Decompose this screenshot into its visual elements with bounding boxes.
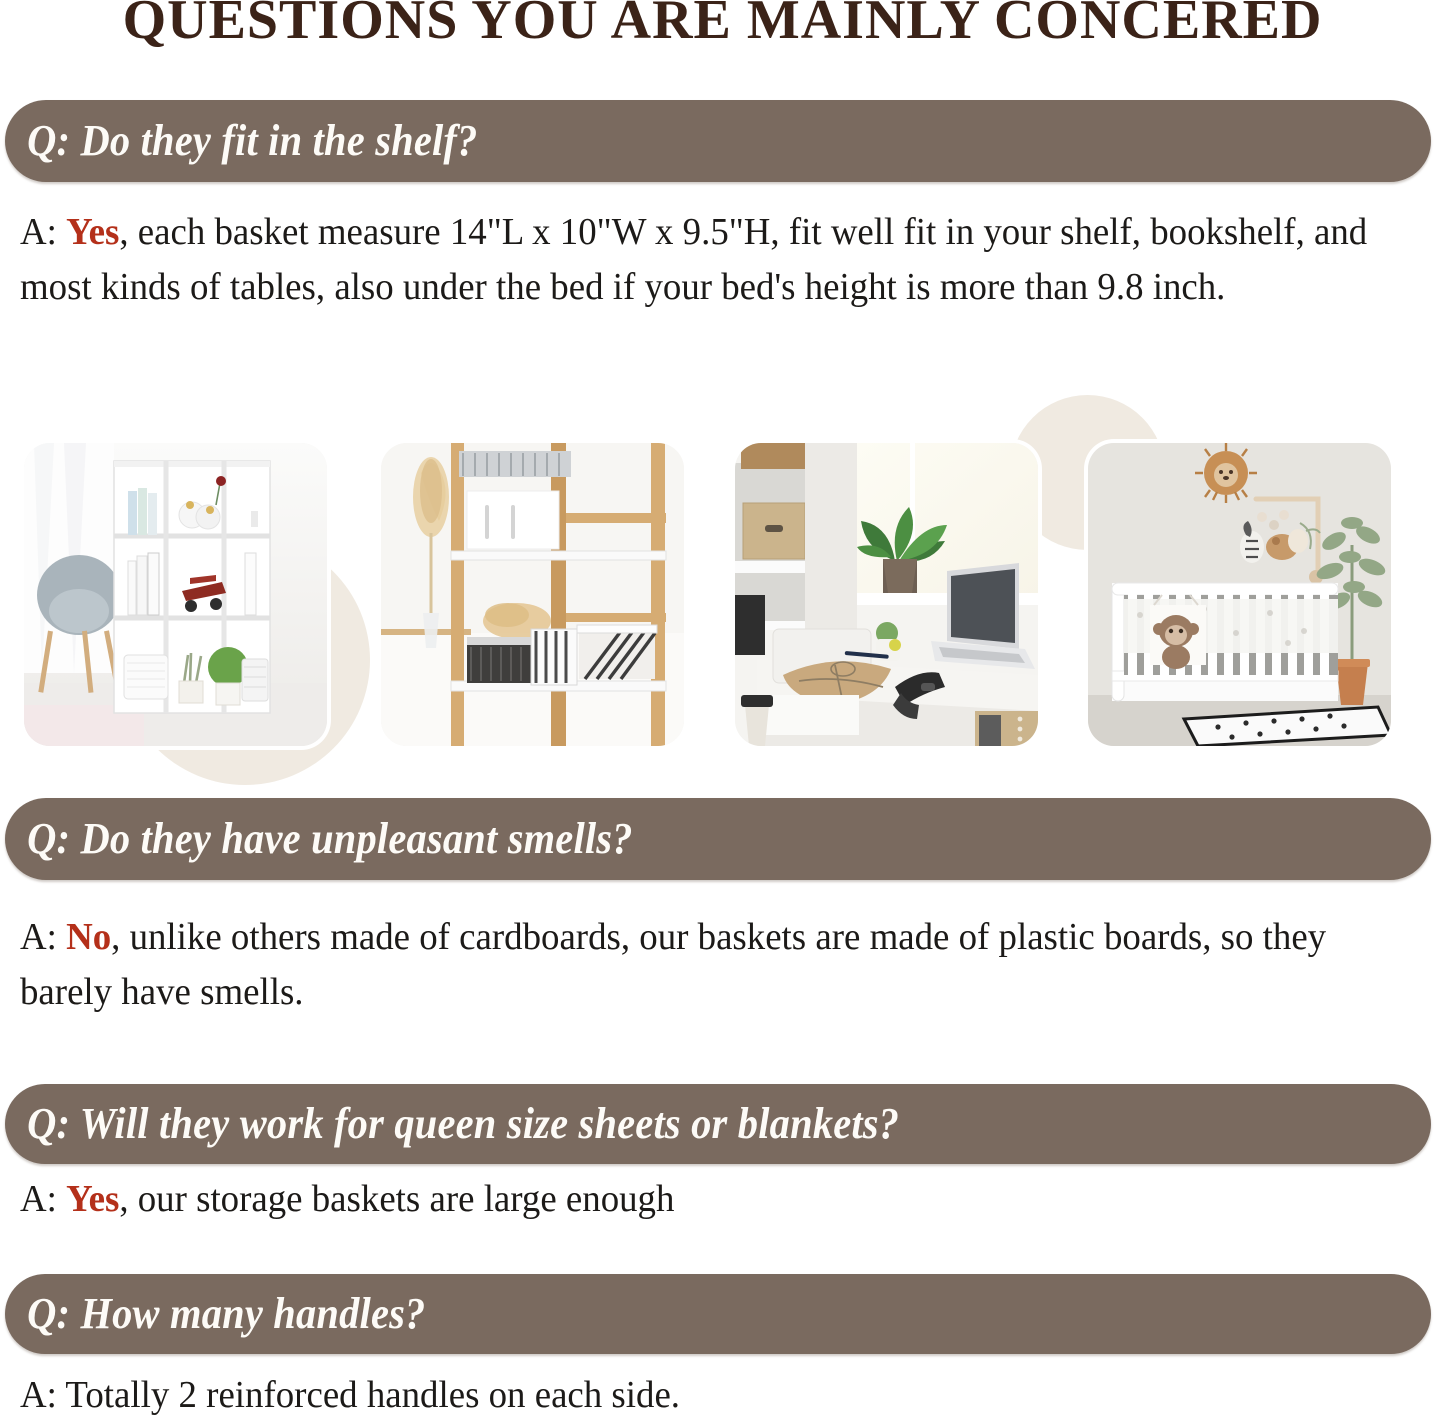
question-text-1: Q: Do they fit in the shelf? [5, 117, 478, 165]
answer-text-1: A: Yes, each basket measure 14"L x 10"W … [20, 205, 1397, 315]
question-text-3: Q: Will they work for queen size sheets … [5, 1100, 899, 1148]
answer-body-3: , our storage baskets are large enough [119, 1178, 674, 1220]
photo-bookshelf-room [24, 443, 327, 746]
answer-body-4: Totally 2 reinforced handles on each sid… [65, 1374, 680, 1416]
answer-highlight-3: Yes [66, 1178, 119, 1220]
answer-highlight-2: No [66, 916, 111, 958]
question-bar-4: Q: How many handles? [5, 1274, 1431, 1354]
answer-highlight-1: Yes [66, 211, 119, 253]
photo-office-desk [735, 443, 1038, 746]
question-text-2: Q: Do they have unpleasant smells? [5, 815, 633, 863]
question-text-4: Q: How many handles? [5, 1290, 425, 1338]
answer-text-4: A: Totally 2 reinforced handles on each … [20, 1368, 1397, 1423]
answer-body-2: , unlike others made of cardboards, our … [20, 916, 1326, 1013]
answer-prefix-3: A: [20, 1178, 66, 1220]
answer-body-1: , each basket measure 14"L x 10"W x 9.5"… [20, 211, 1367, 308]
photo-nursery-crib [1088, 443, 1391, 746]
answer-text-3: A: Yes, our storage baskets are large en… [20, 1172, 1397, 1227]
photo-bamboo-rack [381, 443, 684, 746]
answer-prefix-4: A: [20, 1374, 65, 1416]
question-bar-2: Q: Do they have unpleasant smells? [5, 798, 1431, 880]
answer-prefix-1: A: [20, 211, 66, 253]
question-bar-1: Q: Do they fit in the shelf? [5, 100, 1431, 182]
page-title: QUESTIONS YOU ARE MAINLY CONCERED [0, 0, 1445, 52]
question-bar-3: Q: Will they work for queen size sheets … [5, 1084, 1431, 1164]
answer-prefix-2: A: [20, 916, 66, 958]
page-title-container: QUESTIONS YOU ARE MAINLY CONCERED [0, 0, 1445, 52]
answer-text-2: A: No, unlike others made of cardboards,… [20, 910, 1397, 1020]
